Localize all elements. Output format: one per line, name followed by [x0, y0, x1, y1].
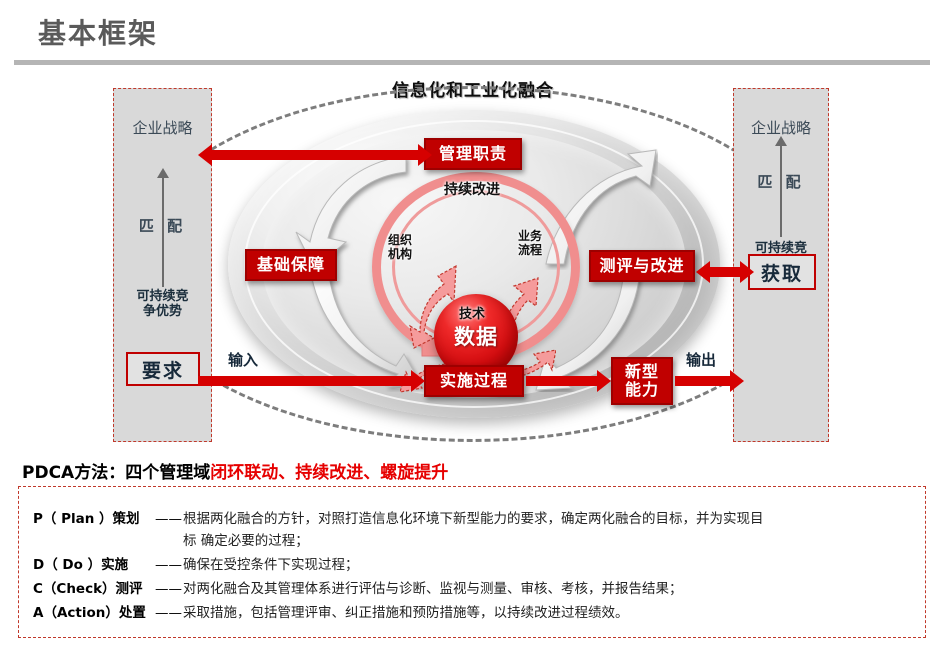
pdca-check-desc: 对两化融合及其管理体系进行评估与诊断、监视与测量、审核、考核，并报告结果；	[183, 581, 683, 597]
arrow-capability-to-output	[675, 376, 731, 386]
pdca-do-key: D（ Do ）实施	[33, 553, 155, 573]
arrowhead-right	[418, 144, 432, 166]
management-responsibility-box[interactable]: 管理职责	[424, 138, 522, 170]
label-business-line2: 流程	[508, 244, 552, 257]
arrowhead-left	[696, 261, 710, 283]
pdca-action-key: A（Action）处置	[33, 601, 155, 621]
left-strategy-panel: 企业战略 匹 配 可持续竞 争优势	[113, 88, 212, 442]
right-match-label: 匹 配	[734, 171, 828, 192]
pdca-action-desc: 采取措施，包括管理评审、纠正措施和预防措施等，以持续改进过程绩效。	[183, 605, 629, 621]
pdca-check-key: C（Check）测评	[33, 577, 155, 597]
arrow-evaluation-to-acquire	[709, 267, 741, 277]
pdca-check-dash: ——	[155, 581, 183, 597]
arrow-implementation-to-capability	[526, 376, 598, 386]
pdca-row-plan: P（ Plan ）策划——根据两化融合的方针，对照打造信息化环境下新型能力的要求…	[33, 507, 764, 527]
input-label: 输入	[228, 349, 258, 370]
pdca-action-dash: ——	[155, 605, 183, 621]
foundation-guarantee-box[interactable]: 基础保障	[245, 249, 337, 281]
pdca-heading-black: PDCA方法：四个管理域	[22, 463, 210, 483]
label-organization-line2: 机构	[378, 248, 422, 261]
arrowhead-right	[730, 370, 744, 392]
evaluation-improvement-box[interactable]: 测评与改进	[589, 250, 695, 282]
pdca-do-desc: 确保在受控条件下实现过程；	[183, 557, 359, 573]
left-panel-heading: 企业战略	[114, 117, 211, 138]
pdca-do-dash: ——	[155, 557, 183, 573]
left-advantage-line1: 可持续竞	[114, 289, 211, 304]
pdca-plan-desc: 根据两化融合的方针，对照打造信息化环境下新型能力的要求，确定两化融合的目标，并为…	[183, 511, 764, 527]
pdca-plan-key: P（ Plan ）策划	[33, 507, 155, 527]
arrowhead-right	[740, 261, 754, 283]
pdca-row-check: C（Check）测评——对两化融合及其管理体系进行评估与诊断、监视与测量、审核、…	[33, 577, 683, 597]
new-capability-line1: 新型	[625, 363, 659, 381]
pdca-plan-dash: ——	[155, 511, 183, 527]
acquire-box[interactable]: 获取	[748, 254, 816, 290]
pdca-heading-red: 闭环联动、持续改进、螺旋提升	[210, 463, 448, 483]
pdca-plan-continuation: 标 确定必要的过程；	[33, 529, 309, 549]
arrow-management-to-strategy	[211, 150, 419, 160]
label-organization-line1: 组织	[378, 234, 422, 247]
implementation-process-box[interactable]: 实施过程	[424, 365, 524, 397]
pdca-detail-box: P（ Plan ）策划——根据两化融合的方针，对照打造信息化环境下新型能力的要求…	[18, 486, 926, 638]
new-capability-line2: 能力	[625, 381, 659, 399]
pdca-row-do: D（ Do ）实施——确保在受控条件下实现过程；	[33, 553, 359, 573]
requirement-box[interactable]: 要求	[126, 352, 200, 386]
left-advantage-line2: 争优势	[114, 304, 211, 319]
arrowhead-right	[597, 370, 611, 392]
pdca-heading: PDCA方法：四个管理域闭环联动、持续改进、螺旋提升	[22, 458, 448, 483]
page-title: 基本框架	[38, 12, 158, 52]
left-match-label: 匹 配	[114, 215, 211, 236]
arrowhead-right	[411, 370, 425, 392]
pdca-row-action: A（Action）处置——采取措施，包括管理评审、纠正措施和预防措施等，以持续改…	[33, 601, 629, 621]
label-business-line1: 业务	[508, 230, 552, 243]
right-panel-heading: 企业战略	[734, 117, 828, 138]
arrow-requirement-to-implementation	[198, 376, 412, 386]
output-label: 输出	[686, 349, 716, 370]
arrowhead-left	[198, 144, 212, 166]
framework-diagram: 信息化和工业化融合	[0, 72, 944, 450]
new-capability-box[interactable]: 新型 能力	[611, 357, 673, 405]
title-divider	[14, 60, 930, 65]
